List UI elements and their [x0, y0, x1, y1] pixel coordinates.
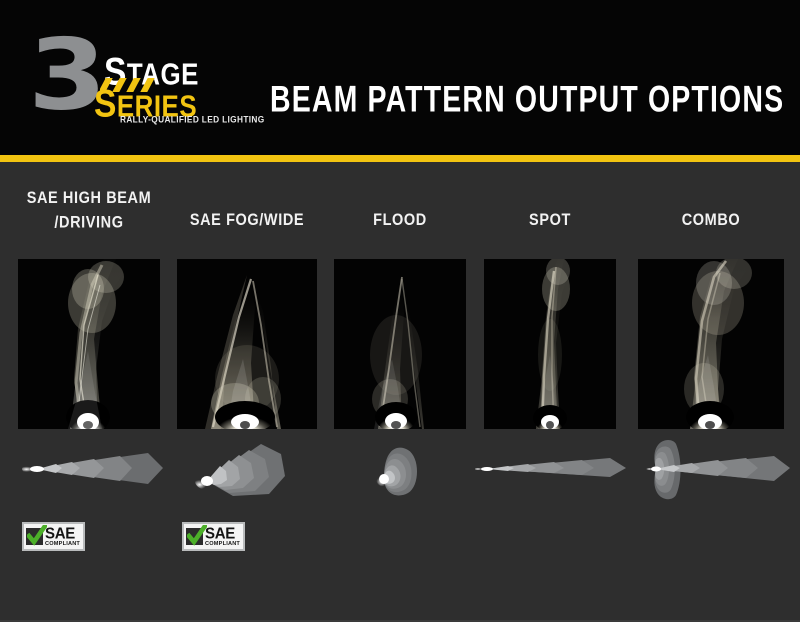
checkbox — [26, 528, 43, 545]
beam-photo — [638, 259, 784, 429]
beam-photo — [484, 259, 616, 429]
beam-pattern-diagram — [364, 438, 438, 500]
logo-numeral: 3 — [28, 26, 100, 124]
accent-divider — [0, 155, 800, 162]
beam-photo — [18, 259, 160, 429]
page-title: BEAM PATTERN OUTPUT OPTIONS — [270, 80, 784, 121]
beam-photo — [177, 259, 317, 429]
beam-pattern-diagram — [470, 444, 636, 492]
badge-title: SAE — [205, 526, 240, 542]
sae-compliant-badge: SAE COMPLIANT — [182, 522, 245, 551]
column-label: FLOOD — [334, 208, 466, 233]
logo-tagline: RALLY-QUALIFIED LED LIGHTING — [120, 114, 265, 125]
beam-pattern-diagram — [630, 434, 798, 504]
sae-compliant-badge: SAE COMPLIANT — [22, 522, 85, 551]
poster-header: 3 STAGE SERIES RALLY-QUALIFIED LED LIGHT… — [0, 0, 800, 158]
check-icon — [187, 525, 207, 547]
beam-pattern-diagram — [16, 441, 168, 496]
stage-series-logo: 3 STAGE SERIES RALLY-QUALIFIED LED LIGHT… — [28, 28, 233, 128]
badge-title: SAE — [45, 526, 80, 542]
column-label: COMBO — [638, 208, 784, 233]
beam-pattern-diagram — [187, 438, 307, 500]
beam-pattern-poster: 3 STAGE SERIES RALLY-QUALIFIED LED LIGHT… — [0, 0, 800, 622]
beam-photo — [334, 259, 466, 429]
column-label: SAE FOG/WIDE — [177, 208, 317, 233]
column-label: SPOT — [484, 208, 616, 233]
checkbox — [186, 528, 203, 545]
check-icon — [27, 525, 47, 547]
column-label: SAE HIGH BEAM /DRIVING — [18, 186, 160, 235]
